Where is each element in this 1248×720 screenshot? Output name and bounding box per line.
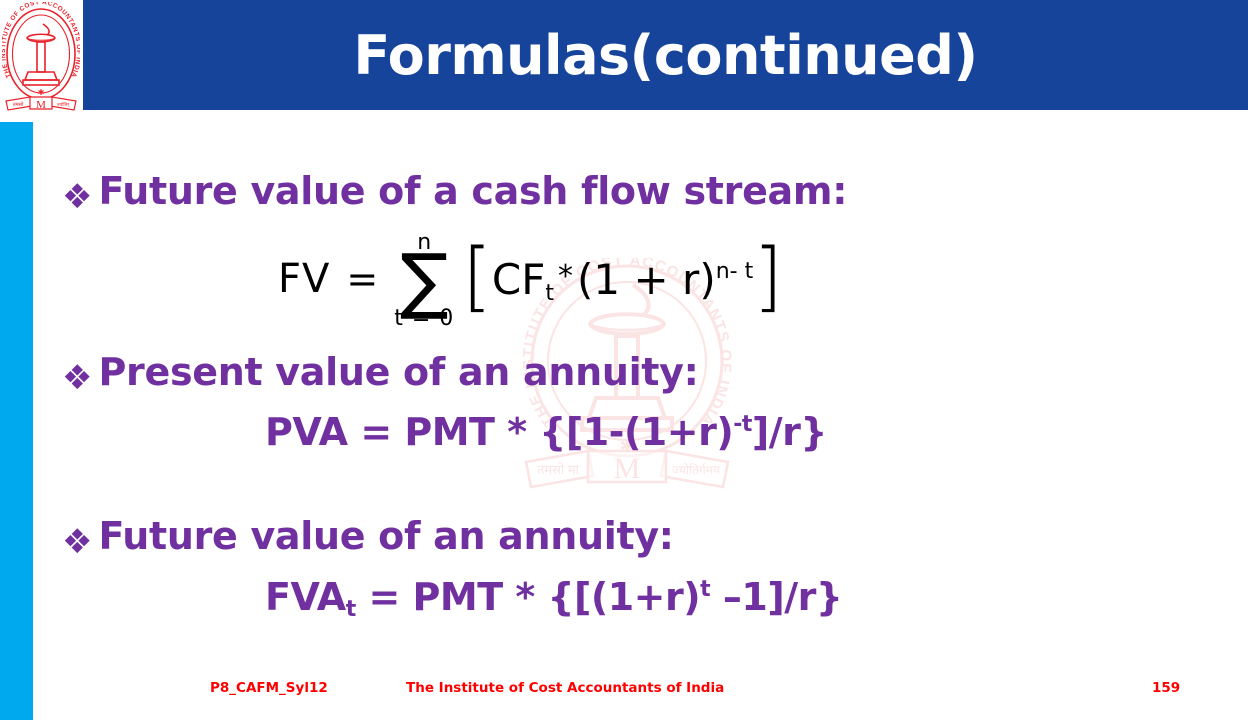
fva-tail: –1]/r}: [710, 575, 842, 619]
term-cf-subscript: t: [545, 281, 554, 306]
formula-present-value-annuity: PVA = PMT * {[1-(1+r)-t]/r}: [265, 410, 827, 454]
bullet-label: Present value of an annuity:: [98, 353, 698, 393]
formula-lhs: FV: [278, 256, 330, 302]
term-cf: CF: [492, 255, 545, 304]
bullet-item-future-value-annuity: ❖ Future value of an annuity:: [62, 517, 674, 557]
slide-canvas: Formulas(continued) THE INSTITUTE OF COS…: [0, 0, 1248, 720]
svg-text:✱: ✱: [38, 88, 45, 97]
formula-equals: =: [346, 257, 378, 301]
multiply-symbol: *: [558, 259, 573, 294]
slide-footer: P8_CAFM_Syl12 The Institute of Cost Acco…: [0, 675, 1248, 705]
bullet-label: Future value of an annuity:: [98, 517, 673, 557]
sigma-icon: ∑: [400, 252, 449, 308]
pva-lead: PVA = PMT * {[1-(1+r): [265, 410, 733, 454]
fva-mid: = PMT * {[(1+r): [356, 575, 700, 619]
formula-expression: CFt*(1 + r)n- t: [492, 255, 753, 306]
bullet-marker-icon: ❖: [62, 525, 92, 559]
growth-factor: (1 + r): [577, 255, 716, 304]
summation-operator: n ∑ t = 0: [394, 232, 454, 330]
fva-exponent: t: [700, 577, 710, 602]
open-bracket: [: [462, 253, 492, 299]
formula-future-value-annuity: FVAt = PMT * {[(1+r)t –1]/r}: [265, 575, 842, 622]
bullet-marker-icon: ❖: [62, 180, 92, 214]
bullet-item-future-value-cash-flow-stream: ❖ Future value of a cash flow stream:: [62, 172, 847, 212]
slide-body: ❖ Future value of a cash flow stream: FV…: [0, 110, 1248, 655]
pva-tail: ]/r}: [752, 410, 827, 454]
pva-exponent: -t: [733, 412, 752, 437]
bullet-marker-icon: ❖: [62, 361, 92, 395]
fva-lead: FVA: [265, 575, 346, 619]
fva-subscript: t: [346, 597, 356, 622]
formula-future-value-cash-flow-stream: FV = n ∑ t = 0 [ CFt*(1 + r)n- t ]: [278, 230, 783, 328]
summation-lower-limit: t = 0: [394, 308, 454, 330]
bullet-label: Future value of a cash flow stream:: [98, 172, 847, 212]
svg-text:ज्योतिर्: ज्योतिर्: [57, 101, 70, 108]
footer-page-number: 159: [1152, 680, 1180, 696]
footer-organization: The Institute of Cost Accountants of Ind…: [406, 680, 724, 696]
close-bracket: ]: [753, 253, 783, 299]
bullet-item-present-value-annuity: ❖ Present value of an annuity:: [62, 353, 699, 393]
growth-exponent: n- t: [716, 259, 754, 284]
institute-logo-icon: THE INSTITUTE OF COST ACCOUNTANTS OF IND…: [2, 2, 80, 118]
svg-text:तमसो: तमसो: [13, 101, 24, 108]
footer-course-code: P8_CAFM_Syl12: [210, 680, 328, 696]
title-banner: Formulas(continued): [83, 0, 1248, 110]
page-title: Formulas(continued): [83, 0, 1248, 110]
